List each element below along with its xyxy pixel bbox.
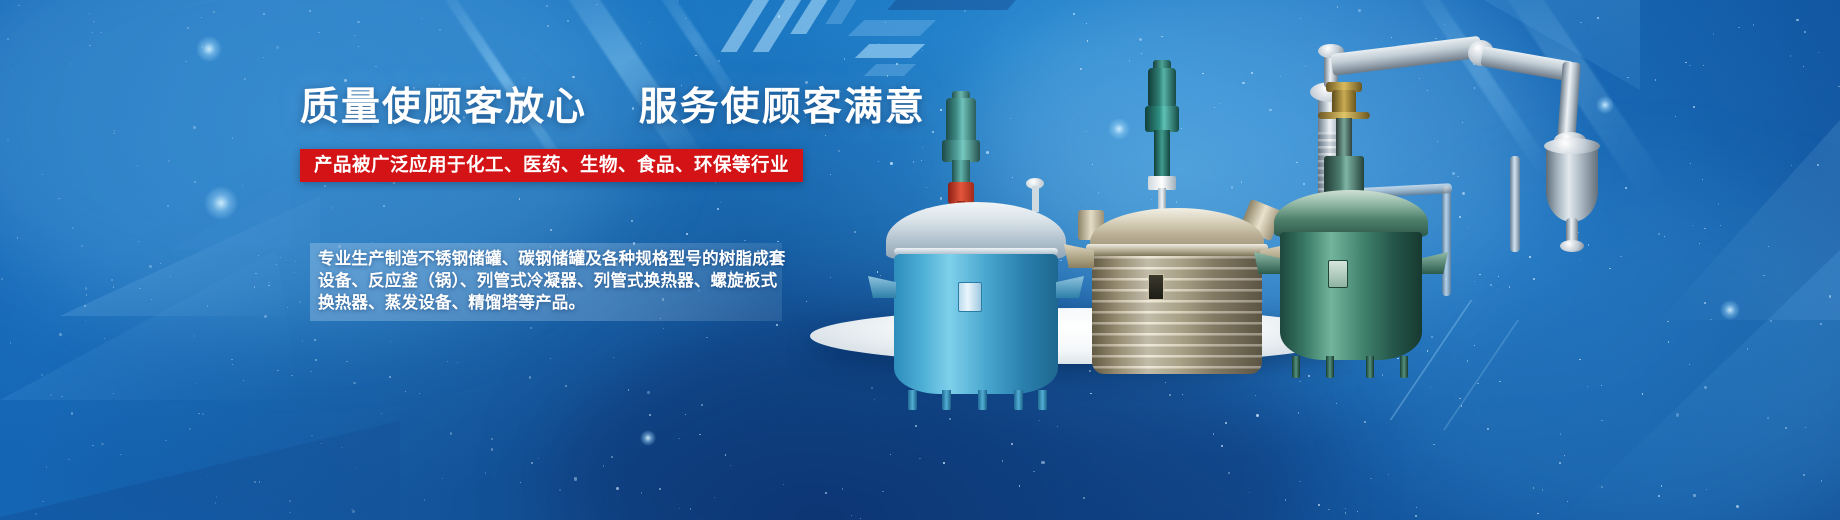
glow-dot [204,186,238,220]
horizontal-pipe [1331,36,1483,76]
dome-flange [1086,244,1268,256]
pipe-flange [1560,240,1584,252]
vessel-body [894,254,1058,394]
vessel-leg [1400,356,1408,378]
drive-motor [1148,68,1176,108]
sight-glass [958,282,982,312]
product-image-group [790,30,1840,400]
headline-part-2: 服务使顾客满意 [639,86,926,129]
vessel-leg [1014,390,1023,410]
blue-reactor-vessel [886,98,1066,340]
hatch-bar [887,0,1032,10]
stainless-steel-reactor-vessel [1084,68,1270,344]
description-line-1: 专业生产制造不锈钢储罐、碳钢储罐及各种规格型号的树脂成套 [318,248,786,270]
gearbox [942,140,980,162]
triangle-decoration [0,392,400,520]
hatch-bar [721,0,776,52]
support-lug [1056,276,1084,298]
triangle-decoration [170,180,290,250]
vessel-leg [1292,356,1300,378]
drive-motor [946,98,976,142]
headline-part-1: 质量使顾客放心 [300,86,587,129]
glow-dot [640,430,656,446]
triangle-decoration [0,250,300,400]
vessel-leg [908,390,917,410]
vessel-leg [942,390,951,410]
gearbox [1324,156,1364,194]
glow-dot [196,36,222,62]
description-text: 专业生产制造不锈钢储罐、碳钢储罐及各种规格型号的树脂成套 设备、反应釜（锅）、列… [318,248,786,314]
description-line-3: 换热器、蒸发设备、精馏塔等产品。 [318,292,786,314]
drive-shaft [1154,130,1170,182]
sight-glass [1148,274,1164,300]
vessel-leg [978,390,987,410]
triangle-decoration [60,196,320,316]
support-pipe [1510,156,1520,252]
vessel-leg [1326,356,1334,378]
condenser-tank [1546,144,1598,222]
page-title: 质量使顾客放心 服务使顾客满意 [300,88,800,127]
vessel-leg [1366,356,1374,378]
sight-glass [1328,260,1348,288]
vessel-body [1280,232,1422,360]
gearbox [1145,106,1179,132]
industries-ribbon: 产品被广泛应用于化工、医药、生物、食品、环保等行业 [300,149,803,182]
description-line-2: 设备、反应釜（锅）、列管式冷凝器、列管式换热器、螺旋板式 [318,270,786,292]
hatch-bar [790,0,833,34]
vessel-leg [1038,390,1047,410]
support-pipe [1442,186,1451,296]
horizontal-pipe [1480,46,1574,82]
gauge-stem [1032,186,1039,212]
hatch-bar [825,0,862,24]
promotional-banner: 质量使顾客放心 服务使顾客满意 产品被广泛应用于化工、医药、生物、食品、环保等行… [0,0,1840,520]
vessel-dome [1274,190,1428,238]
tank-top-flange [1544,138,1600,154]
banner-copy-block: 质量使顾客放心 服务使顾客满意 产品被广泛应用于化工、医药、生物、食品、环保等行… [300,88,800,182]
green-reactor-vessel [1270,90,1432,344]
support-lug [868,276,896,298]
jacketed-vessel-body [1092,256,1262,374]
